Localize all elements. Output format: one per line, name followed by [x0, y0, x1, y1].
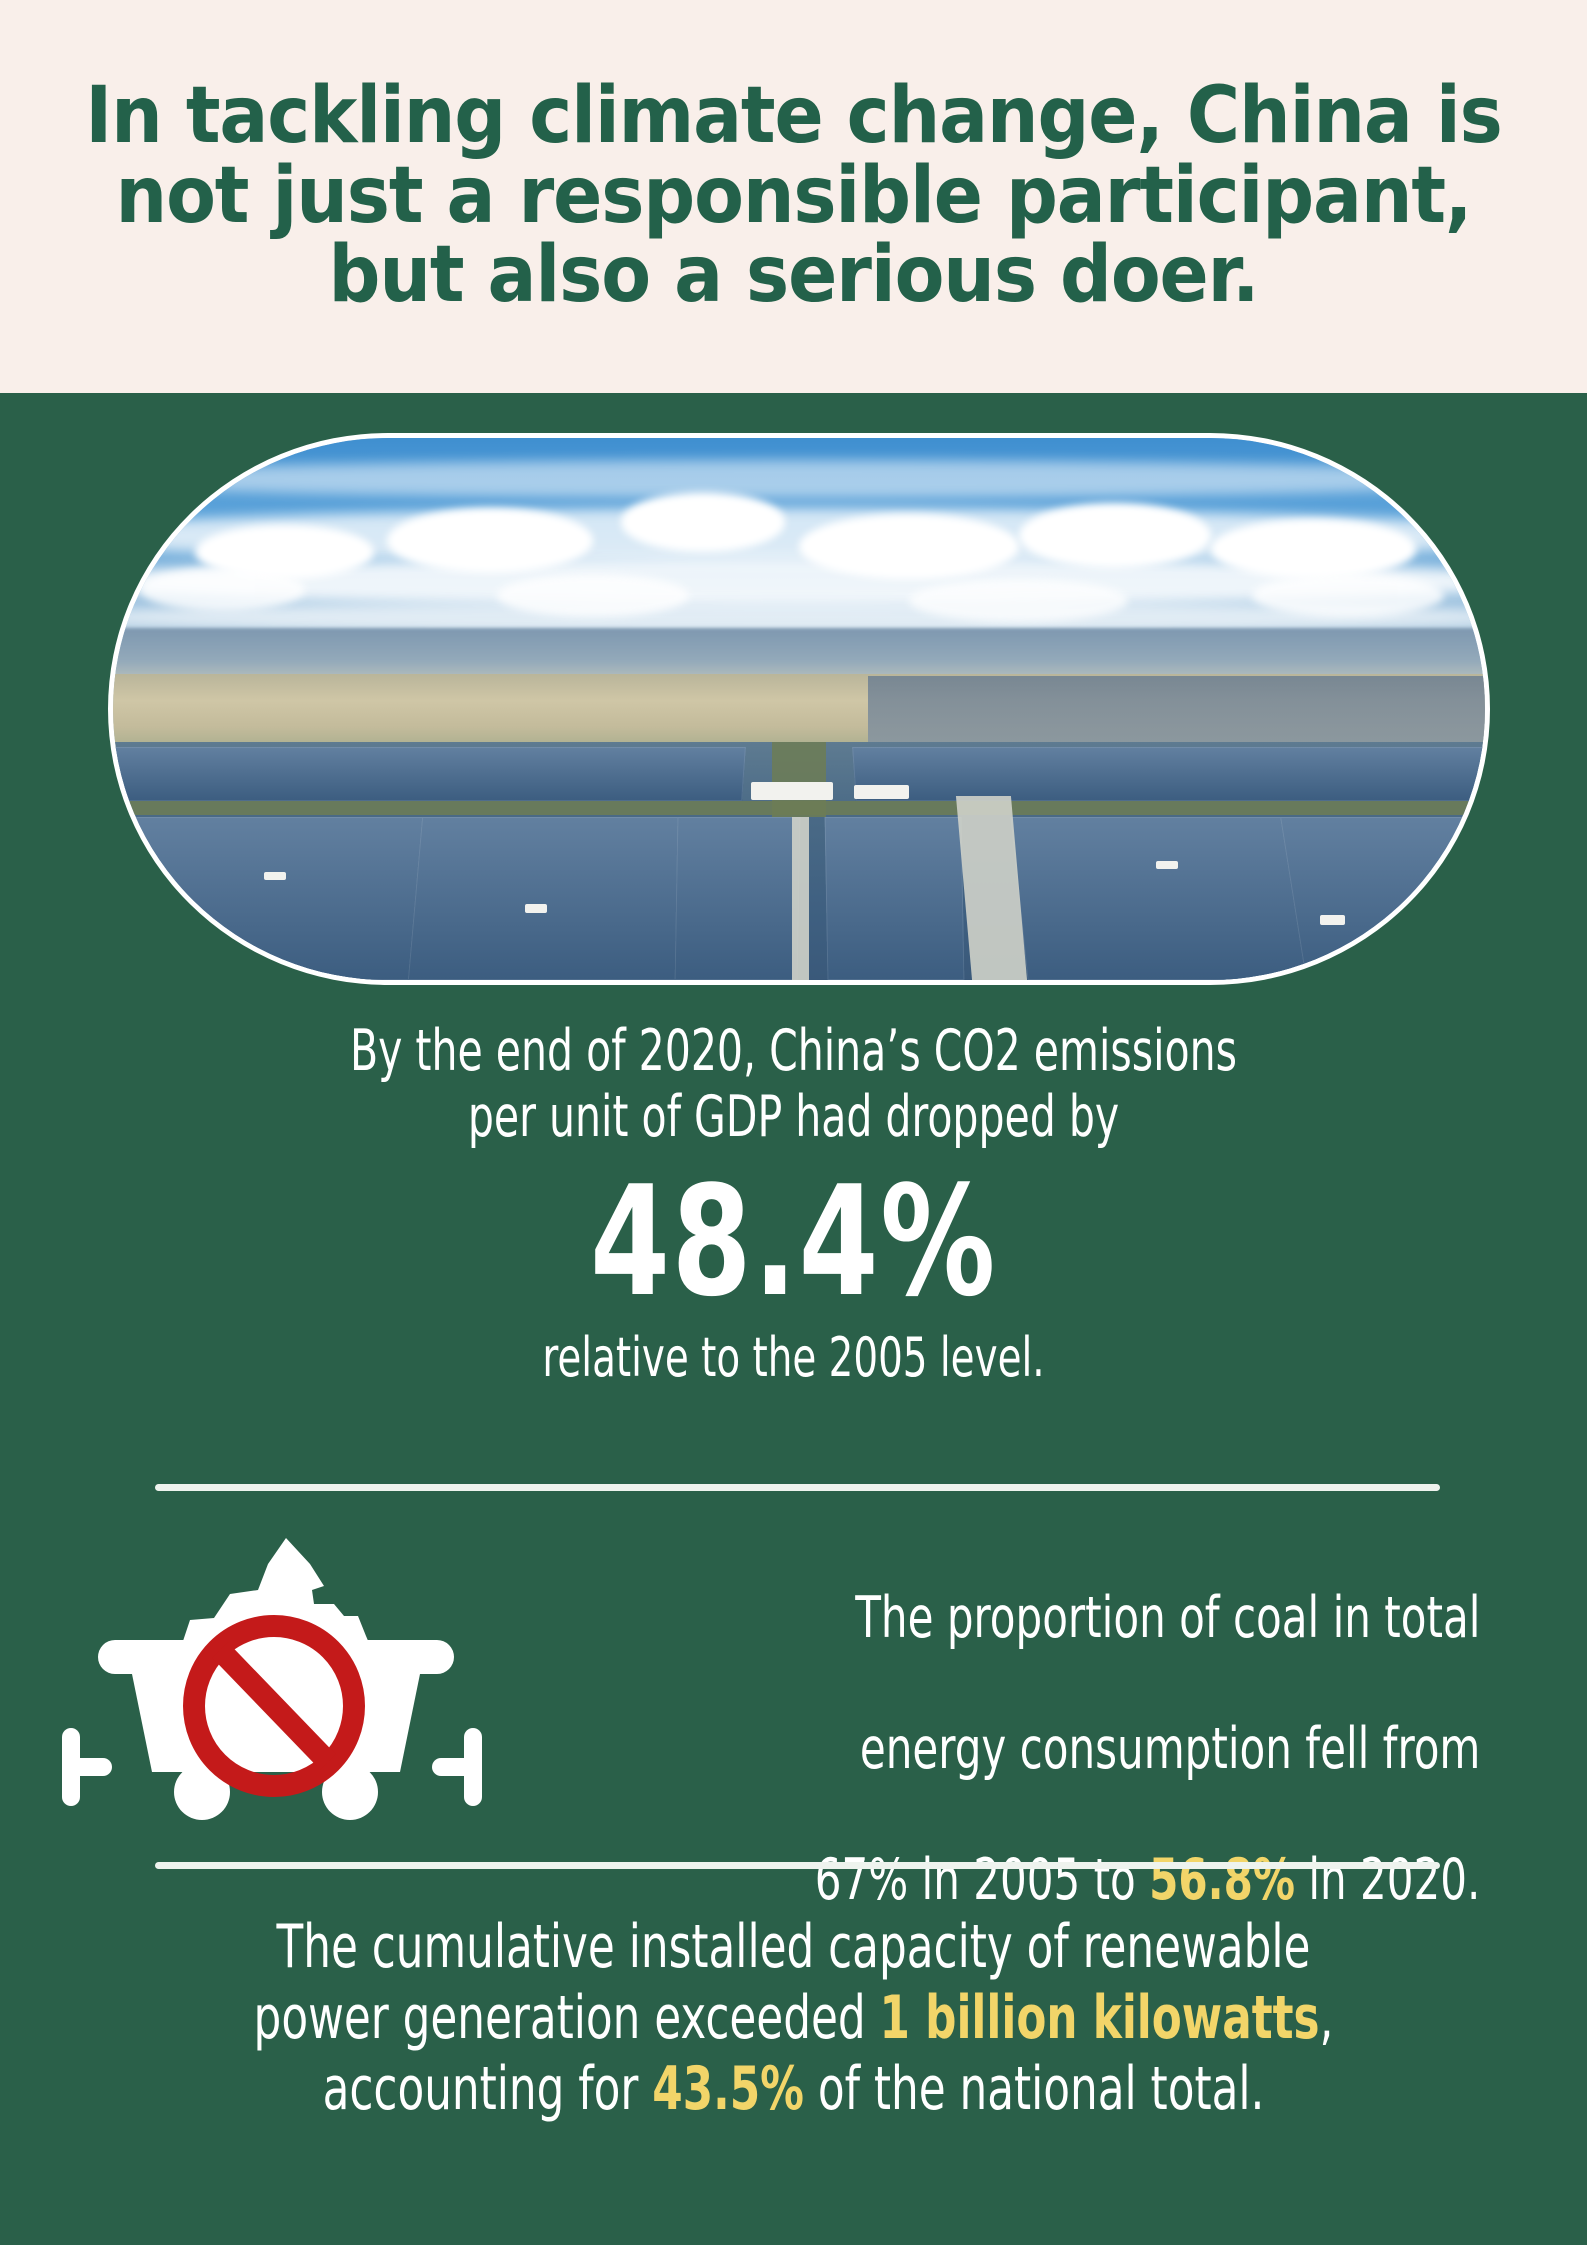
cloud-puff [909, 579, 1129, 622]
divider [155, 1862, 1440, 1869]
panel-row [1280, 817, 1485, 980]
stat-co2-value: 48.4% [127, 1166, 1460, 1318]
stat-renewable-part3: of the national total. [804, 2054, 1264, 2124]
stat-coal-block: The proportion of coal in total energy c… [0, 1520, 1587, 1840]
inverter-box [264, 872, 286, 881]
stat-renewable-highlight-capacity: 1 billion kilowatts [880, 1983, 1320, 2053]
stat-coal-line3-suffix: in 2020. [1295, 1847, 1480, 1913]
stat-co2-tail: relative to the 2005 level. [159, 1328, 1429, 1387]
cloud-puff [1019, 503, 1211, 568]
solar-farm-photo [108, 433, 1490, 985]
infographic-poster: In tackling climate change, China is not… [0, 0, 1587, 2245]
panel-row [113, 747, 746, 801]
stat-coal-text: The proportion of coal in total energy c… [689, 1520, 1587, 1913]
stat-coal-line2: energy consumption fell from [860, 1716, 1481, 1782]
panel-row [825, 817, 965, 980]
stat-co2-block: By the end of 2020, China’s CO2 emission… [0, 1018, 1587, 1388]
cloud-puff [1252, 574, 1444, 617]
panel-row [113, 817, 455, 980]
stat-renewable-block: The cumulative installed capacity of ren… [151, 1912, 1436, 2124]
substation-building [751, 782, 833, 799]
cloud-puff [1211, 519, 1417, 579]
panel-row [1010, 817, 1329, 980]
cloud-puff [497, 574, 689, 617]
access-road [792, 817, 808, 980]
stat-coal-line1: The proportion of coal in total [855, 1585, 1480, 1651]
divider [155, 1484, 1440, 1491]
no-coal-cart-icon [62, 1520, 482, 1820]
grass-strip [772, 742, 827, 818]
header-banner: In tackling climate change, China is not… [0, 0, 1587, 393]
inverter-box [1320, 915, 1345, 925]
stat-coal-highlight: 56.8% [1149, 1847, 1295, 1913]
cloud-puff [799, 514, 1019, 579]
cloud-puff [621, 492, 786, 552]
solar-farm-photo-content [113, 438, 1485, 980]
stat-co2-lead: By the end of 2020, China’s CO2 emission… [159, 1018, 1429, 1150]
substation-building [854, 785, 909, 799]
inverter-box [1156, 861, 1178, 870]
page-title: In tackling climate change, China is not… [85, 77, 1501, 316]
inverter-box [525, 904, 547, 913]
stat-coal-line3-prefix: 67% in 2005 to [815, 1847, 1149, 1913]
panel-row [852, 747, 1485, 801]
cloud-band [113, 460, 1485, 498]
panel-row [674, 817, 800, 980]
panel-row [408, 817, 697, 980]
stat-renewable-highlight-share: 43.5% [652, 2054, 804, 2124]
